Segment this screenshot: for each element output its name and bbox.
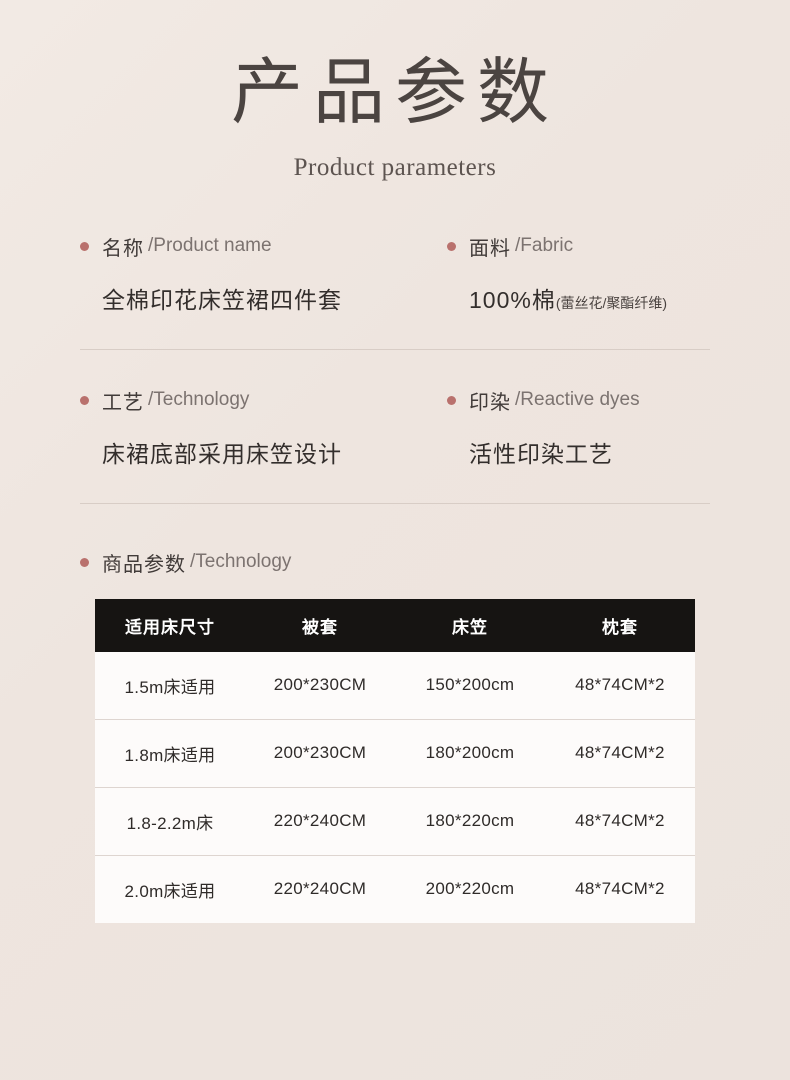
spec-list: 名称 /Product name 全棉印花床笠裙四件套 面料 /Fabric 1… bbox=[0, 232, 790, 315]
spec-value: 活性印染工艺 bbox=[469, 435, 710, 469]
spec-label-en: /Technology bbox=[148, 389, 249, 411]
size-table-wrapper: 适用床尺寸 被套 床笠 枕套 1.5m床适用 200*230CM 150*200… bbox=[95, 599, 695, 923]
bullet-icon bbox=[80, 396, 89, 405]
spec-item-technology: 工艺 /Technology 床裙底部采用床笠设计 bbox=[80, 386, 395, 469]
spec-head: 工艺 /Technology bbox=[80, 386, 395, 415]
spec-value-text: 100%棉 bbox=[469, 287, 556, 313]
cell-pillowcase: 48*74CM*2 bbox=[545, 855, 695, 923]
spec-item-fabric: 面料 /Fabric 100%棉(蕾丝花/聚酯纤维) bbox=[395, 232, 710, 315]
column-header-pillowcase: 枕套 bbox=[545, 599, 695, 652]
page-title-en: Product parameters bbox=[0, 154, 790, 182]
spec-head: 商品参数 /Technology bbox=[80, 548, 710, 577]
cell-bed-size: 1.5m床适用 bbox=[95, 652, 245, 720]
table-header-row: 适用床尺寸 被套 床笠 枕套 bbox=[95, 599, 695, 652]
table-row: 1.5m床适用 200*230CM 150*200cm 48*74CM*2 bbox=[95, 652, 695, 720]
spec-value-text: 活性印染工艺 bbox=[469, 441, 613, 467]
spec-value: 100%棉(蕾丝花/聚酯纤维) bbox=[469, 281, 710, 315]
table-body: 1.5m床适用 200*230CM 150*200cm 48*74CM*2 1.… bbox=[95, 652, 695, 923]
spec-label-zh: 面料 bbox=[469, 232, 511, 261]
cell-bed-size: 1.8-2.2m床 bbox=[95, 787, 245, 855]
bullet-icon bbox=[80, 558, 89, 567]
cell-fitted-sheet: 200*220cm bbox=[395, 855, 545, 923]
section-product-params: 商品参数 /Technology bbox=[0, 548, 790, 577]
cell-duvet-cover: 220*240CM bbox=[245, 855, 395, 923]
spec-label-zh: 工艺 bbox=[102, 386, 144, 415]
spec-label-en: /Fabric bbox=[515, 235, 573, 257]
bullet-icon bbox=[80, 242, 89, 251]
spec-value: 全棉印花床笠裙四件套 bbox=[102, 281, 395, 315]
section-label-en: /Technology bbox=[190, 551, 291, 573]
divider bbox=[80, 349, 710, 350]
table-row: 1.8-2.2m床 220*240CM 180*220cm 48*74CM*2 bbox=[95, 787, 695, 855]
spec-value-text: 床裙底部采用床笠设计 bbox=[102, 441, 342, 467]
bullet-icon bbox=[447, 242, 456, 251]
table-row: 1.8m床适用 200*230CM 180*200cm 48*74CM*2 bbox=[95, 719, 695, 787]
divider bbox=[80, 503, 710, 504]
section-label-zh: 商品参数 bbox=[102, 548, 186, 577]
spec-head: 印染 /Reactive dyes bbox=[447, 386, 710, 415]
spec-label-en: /Reactive dyes bbox=[515, 389, 640, 411]
cell-duvet-cover: 220*240CM bbox=[245, 787, 395, 855]
spec-row-2: 工艺 /Technology 床裙底部采用床笠设计 印染 /Reactive d… bbox=[80, 386, 710, 469]
spec-label-zh: 名称 bbox=[102, 232, 144, 261]
spec-value-sub: (蕾丝花/聚酯纤维) bbox=[556, 295, 667, 311]
size-table: 适用床尺寸 被套 床笠 枕套 1.5m床适用 200*230CM 150*200… bbox=[95, 599, 695, 923]
bullet-icon bbox=[447, 396, 456, 405]
column-header-fitted-sheet: 床笠 bbox=[395, 599, 545, 652]
page-title-zh: 产品参数 bbox=[0, 0, 790, 132]
spec-item-dyes: 印染 /Reactive dyes 活性印染工艺 bbox=[395, 386, 710, 469]
spec-label-en: /Product name bbox=[148, 235, 272, 257]
cell-fitted-sheet: 150*200cm bbox=[395, 652, 545, 720]
spec-head: 面料 /Fabric bbox=[447, 232, 710, 261]
spec-row-1: 名称 /Product name 全棉印花床笠裙四件套 面料 /Fabric 1… bbox=[80, 232, 710, 315]
cell-bed-size: 2.0m床适用 bbox=[95, 855, 245, 923]
spec-list-2: 工艺 /Technology 床裙底部采用床笠设计 印染 /Reactive d… bbox=[0, 386, 790, 469]
spec-label-zh: 印染 bbox=[469, 386, 511, 415]
cell-duvet-cover: 200*230CM bbox=[245, 719, 395, 787]
spec-head: 名称 /Product name bbox=[80, 232, 395, 261]
spec-value-text: 全棉印花床笠裙四件套 bbox=[102, 287, 342, 313]
product-parameters-page: 产品参数 Product parameters 名称 /Product name… bbox=[0, 0, 790, 1080]
table-header: 适用床尺寸 被套 床笠 枕套 bbox=[95, 599, 695, 652]
spec-value: 床裙底部采用床笠设计 bbox=[102, 435, 395, 469]
cell-fitted-sheet: 180*200cm bbox=[395, 719, 545, 787]
cell-pillowcase: 48*74CM*2 bbox=[545, 719, 695, 787]
column-header-bed-size: 适用床尺寸 bbox=[95, 599, 245, 652]
table-row: 2.0m床适用 220*240CM 200*220cm 48*74CM*2 bbox=[95, 855, 695, 923]
spec-item-product-name: 名称 /Product name 全棉印花床笠裙四件套 bbox=[80, 232, 395, 315]
cell-fitted-sheet: 180*220cm bbox=[395, 787, 545, 855]
cell-duvet-cover: 200*230CM bbox=[245, 652, 395, 720]
cell-pillowcase: 48*74CM*2 bbox=[545, 652, 695, 720]
cell-bed-size: 1.8m床适用 bbox=[95, 719, 245, 787]
column-header-duvet-cover: 被套 bbox=[245, 599, 395, 652]
cell-pillowcase: 48*74CM*2 bbox=[545, 787, 695, 855]
